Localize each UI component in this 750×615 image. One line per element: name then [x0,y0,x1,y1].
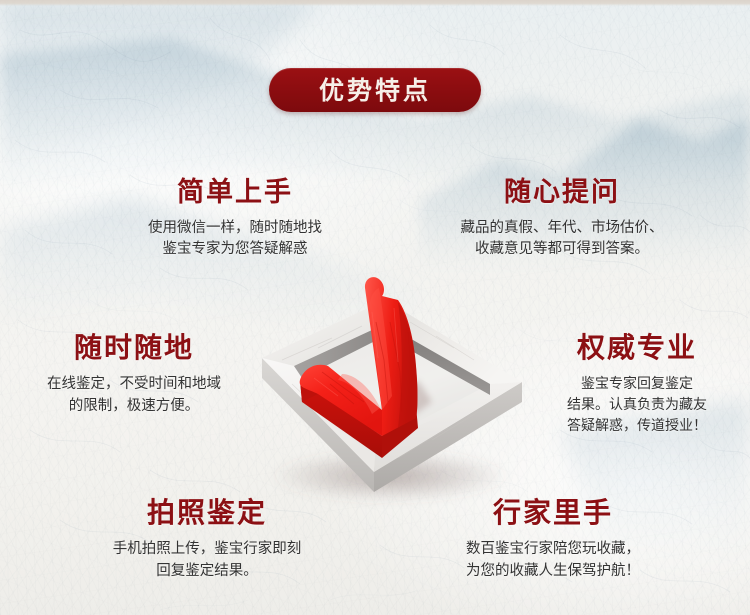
feature-description-line: 在线鉴定，不受时间和地域 [8,374,260,396]
feature-title: 随心提问 [412,178,712,208]
feature-description: 藏品的真假、年代、市场估价、 收藏意见等都可得到答案。 [412,218,712,262]
feature-description-line: 的限制，极速方便。 [8,396,260,418]
feature-description-line: 数百鉴宝行家陪您玩收藏， [408,539,698,561]
feature-description-line: 鉴宝专家为您答疑解惑 [90,239,380,261]
feature-authoritative-professional: 权威专业 鉴宝专家回复鉴定 结果。认真负责为藏友 答疑解惑，传道授业！ [524,333,750,437]
3d-checkbox-illustration [222,262,542,512]
feature-description-line: 鉴宝专家回复鉴定 [524,374,750,395]
feature-description-line: 收藏意见等都可得到答案。 [412,239,712,261]
feature-title: 权威专业 [524,333,750,364]
feature-title: 行家里手 [408,498,698,529]
feature-ask-freely: 随心提问 藏品的真假、年代、市场估价、 收藏意见等都可得到答案。 [412,178,712,261]
feature-description-line: 结果。认真负责为藏友 [524,395,750,416]
feature-description: 手机拍照上传，鉴宝行家即刻 回复鉴定结果。 [68,539,346,583]
feature-title: 简单上手 [90,178,380,208]
feature-description-line: 答疑解惑，传道授业！ [524,416,750,437]
feature-description-line: 手机拍照上传，鉴宝行家即刻 [68,539,346,561]
title-badge-container: 优势特点 [0,68,750,112]
feature-expert-connoisseur: 行家里手 数百鉴宝行家陪您玩收藏， 为您的收藏人生保驾护航！ [408,498,698,582]
feature-simple-to-use: 简单上手 使用微信一样，随时随地找 鉴宝专家为您答疑解惑 [90,178,380,261]
feature-description-line: 为您的收藏人生保驾护航！ [408,561,698,583]
feature-description-line: 回复鉴定结果。 [68,561,346,583]
feature-description-line: 使用微信一样，随时随地找 [90,218,380,240]
advantages-poster: 优势特点 [0,0,750,615]
feature-description-line: 藏品的真假、年代、市场估价、 [412,218,712,240]
feature-title: 随时随地 [8,333,260,364]
top-edge-strip [0,0,750,6]
page-title-badge: 优势特点 [269,68,481,112]
feature-photo-appraisal: 拍照鉴定 手机拍照上传，鉴宝行家即刻 回复鉴定结果。 [68,498,346,582]
feature-anytime-anywhere: 随时随地 在线鉴定，不受时间和地域 的限制，极速方便。 [8,333,260,417]
feature-title: 拍照鉴定 [68,498,346,529]
feature-description: 在线鉴定，不受时间和地域 的限制，极速方便。 [8,374,260,418]
feature-description: 使用微信一样，随时随地找 鉴宝专家为您答疑解惑 [90,218,380,262]
feature-description: 数百鉴宝行家陪您玩收藏， 为您的收藏人生保驾护航！ [408,539,698,583]
feature-description: 鉴宝专家回复鉴定 结果。认真负责为藏友 答疑解惑，传道授业！ [524,374,750,437]
